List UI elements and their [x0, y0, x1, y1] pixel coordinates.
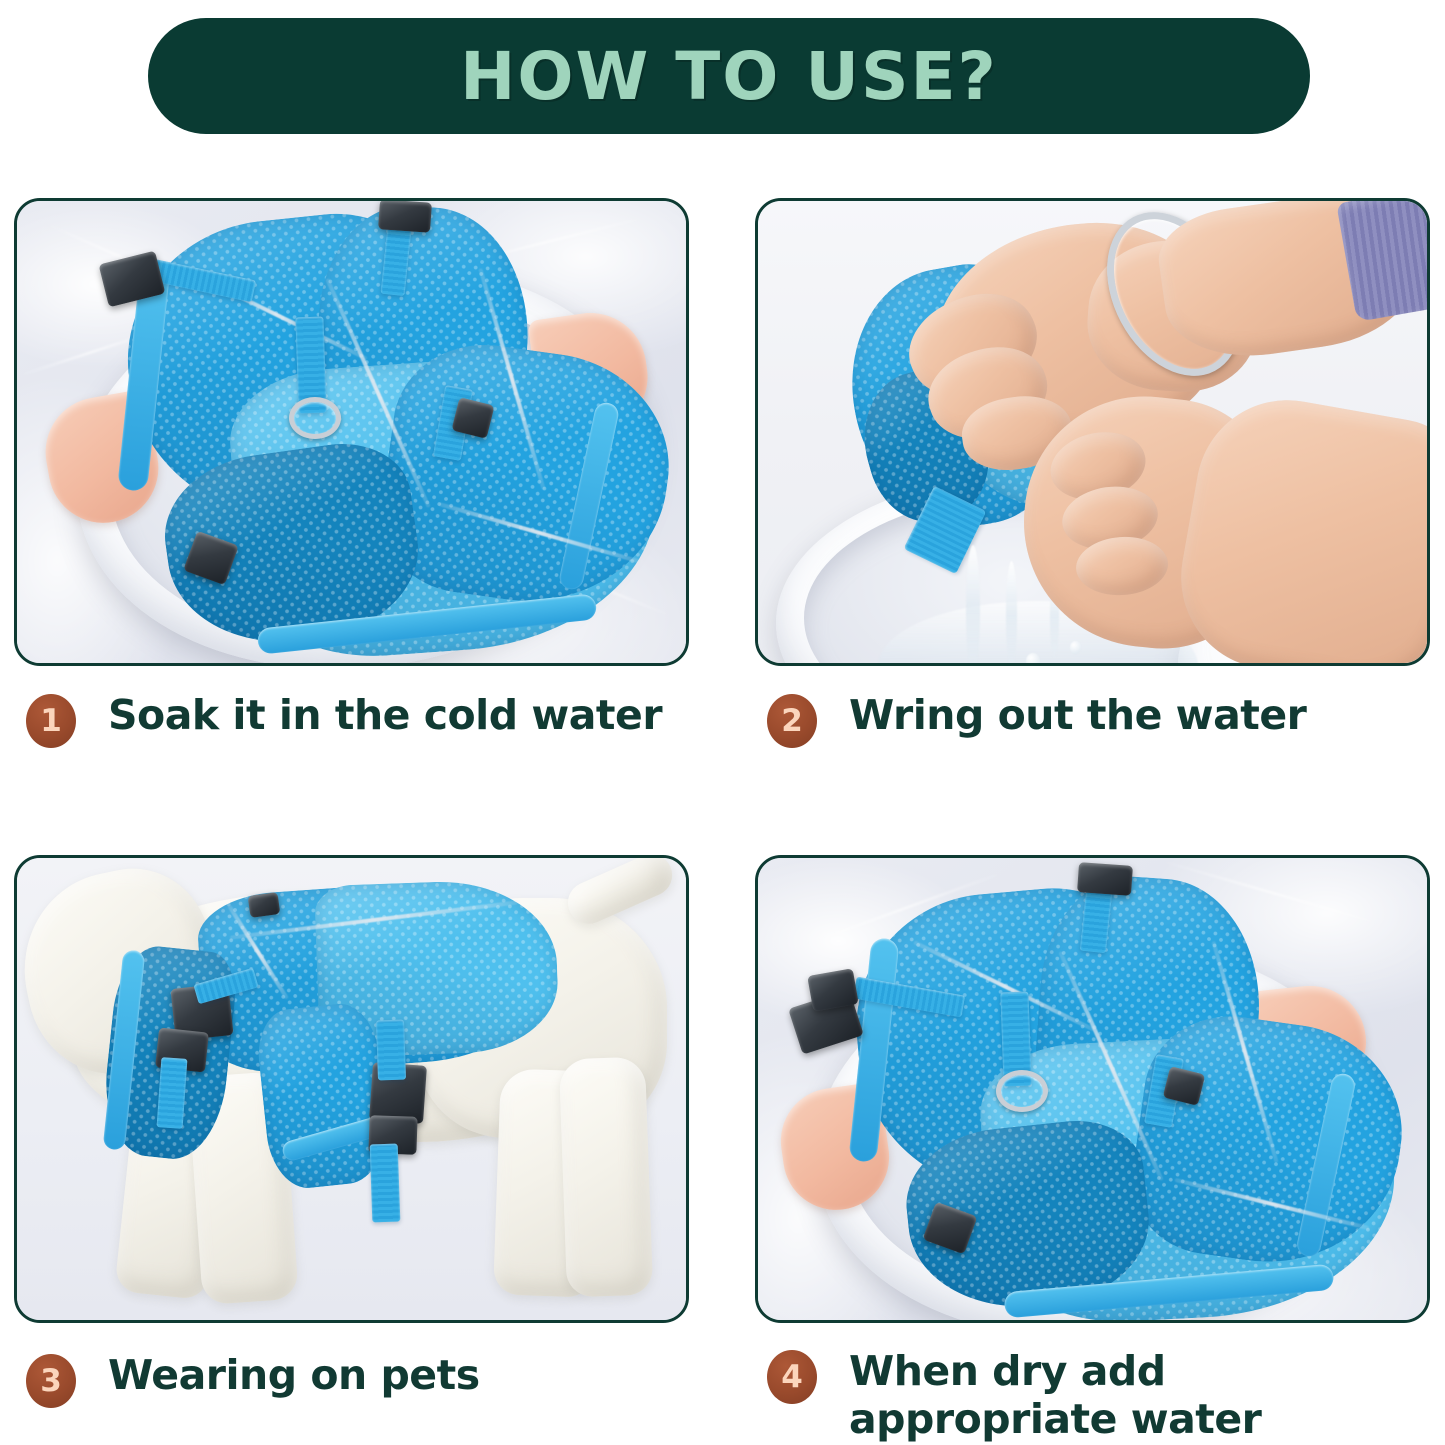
d-ring	[289, 397, 341, 439]
step-image-panel-4	[755, 855, 1430, 1323]
step-4-photo	[758, 858, 1427, 1320]
step-caption-text-4: When dry add appropriate water	[849, 1348, 1432, 1443]
harness-zipper-pull	[248, 892, 281, 918]
d-ring	[996, 1070, 1048, 1112]
step-image-panel-1	[14, 198, 689, 666]
step-caption-2: 2 Wring out the water	[767, 692, 1427, 748]
step-number-badge-2: 2	[767, 694, 817, 748]
page-title: HOW TO USE?	[460, 38, 998, 115]
step-caption-text-3: Wearing on pets	[108, 1352, 480, 1400]
step-image-panel-2	[755, 198, 1430, 666]
step-image-panel-3	[14, 855, 689, 1323]
step-1-photo	[17, 201, 686, 663]
water-stream	[966, 545, 980, 663]
header-banner: HOW TO USE?	[148, 18, 1310, 134]
step-caption-4: 4 When dry add appropriate water	[767, 1348, 1432, 1443]
step-2-photo	[758, 201, 1427, 663]
step-number-badge-1: 1	[26, 694, 76, 748]
step-3-photo	[17, 858, 686, 1320]
step-number-badge-4: 4	[767, 1350, 817, 1404]
step-caption-3: 3 Wearing on pets	[26, 1352, 686, 1408]
step-caption-text-1: Soak it in the cold water	[108, 692, 662, 740]
step-number-badge-3: 3	[26, 1354, 76, 1408]
step-caption-text-2: Wring out the water	[849, 692, 1306, 740]
step-caption-1: 1 Soak it in the cold water	[26, 692, 686, 748]
dog-hind-leg-far	[559, 1057, 653, 1298]
